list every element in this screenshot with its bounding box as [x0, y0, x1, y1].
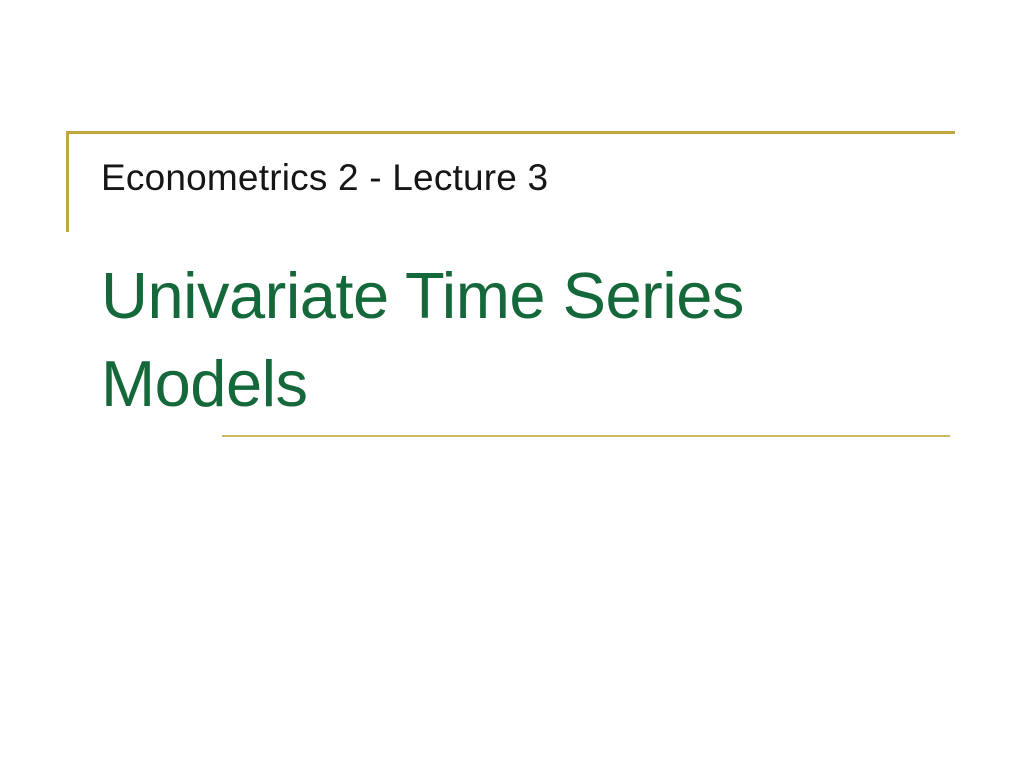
gold-rule-bottom — [222, 435, 950, 437]
slide-title: Univariate Time Series Models — [101, 252, 901, 428]
slide-title-line-1: Univariate Time Series — [101, 252, 901, 340]
gold-rule-left — [66, 131, 69, 232]
slide-title-line-2: Models — [101, 340, 901, 428]
gold-rule-top — [66, 131, 955, 134]
title-slide: Econometrics 2 - Lecture 3 Univariate Ti… — [0, 0, 1024, 768]
slide-subtitle: Econometrics 2 - Lecture 3 — [101, 156, 921, 200]
